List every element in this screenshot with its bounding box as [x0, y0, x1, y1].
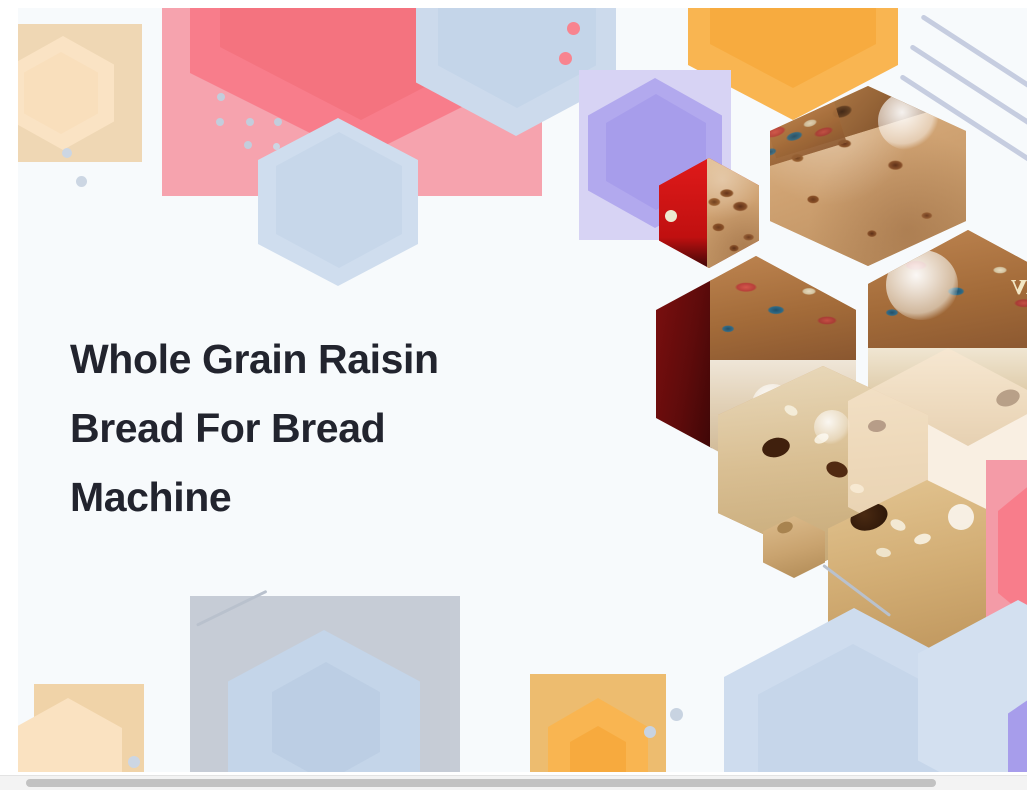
decorative-dot	[62, 148, 72, 158]
decorative-dot	[216, 118, 224, 126]
decorative-dot	[273, 143, 280, 150]
diagonal-accent-line	[920, 14, 1027, 122]
decorative-dot	[76, 176, 87, 187]
decorative-dot	[246, 118, 254, 126]
decorative-dot	[128, 756, 140, 768]
decorative-dot	[217, 93, 225, 101]
decorative-dot-pink	[559, 52, 572, 65]
hero-banner-canvas: Eiv	[18, 8, 1027, 772]
decorative-dot	[670, 708, 683, 721]
horizontal-scrollbar-thumb[interactable]	[26, 779, 936, 787]
horizontal-scrollbar-track[interactable]	[0, 775, 1027, 790]
decorative-dot	[644, 726, 656, 738]
decorative-dot-pink	[567, 22, 580, 35]
decorative-dot	[274, 118, 282, 126]
browser-viewport: Eiv	[0, 0, 1027, 790]
page-title: Whole Grain Raisin Bread For Bread Machi…	[70, 325, 550, 532]
decorative-dot	[244, 141, 252, 149]
